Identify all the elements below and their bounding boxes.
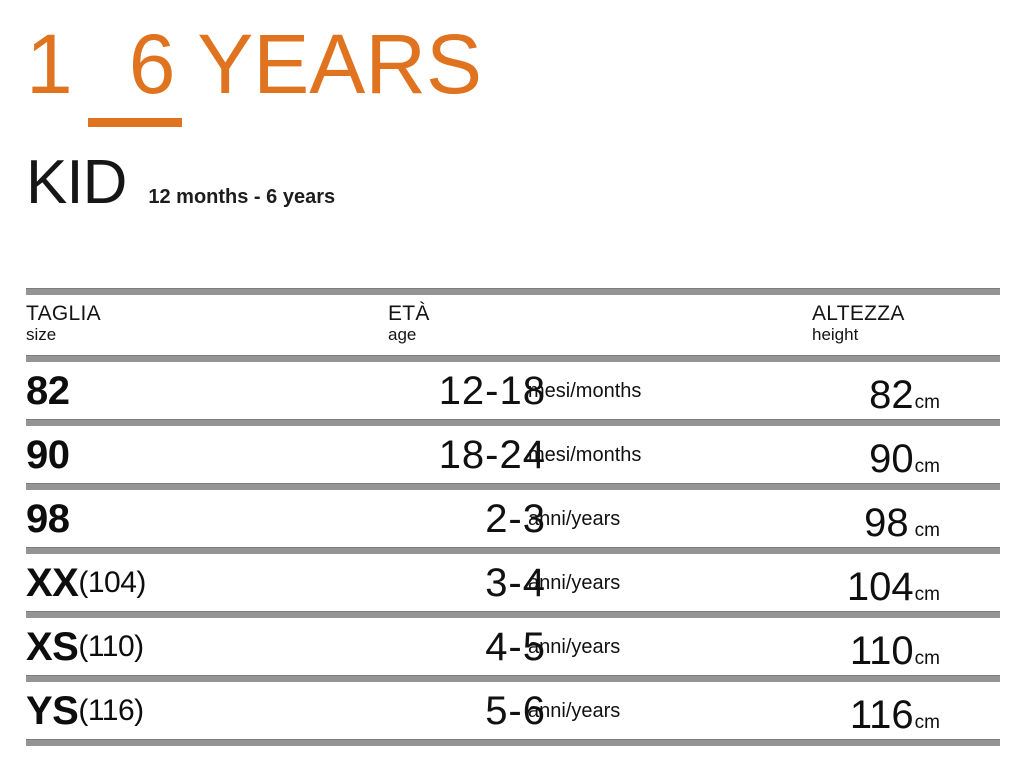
cell-age: 5-6 <box>326 682 546 739</box>
cell-age-unit: anni/years <box>528 490 620 547</box>
age-unit: anni/years <box>528 700 620 722</box>
column-header-height-sub: height <box>812 325 905 345</box>
height-value: 104 <box>847 566 914 608</box>
cell-age-unit: mesi/months <box>528 426 641 483</box>
table-header-row: TAGLIA size ETÀ age ALTEZZA height <box>26 295 1000 355</box>
height-unit: cm <box>915 585 940 605</box>
age-unit: anni/years <box>528 572 620 594</box>
cell-size: XS (110) <box>26 618 144 675</box>
chart-header: 16 YEARS KID 12 months - 6 years <box>0 0 1024 270</box>
cell-height: 116 cm <box>726 682 940 739</box>
table-separator-header <box>26 355 1000 362</box>
cell-age-unit: anni/years <box>528 554 620 611</box>
table-separator-bottom <box>26 739 1000 746</box>
size-table: TAGLIA size ETÀ age ALTEZZA height 82 12… <box>26 288 1000 746</box>
column-header-size-main: TAGLIA <box>26 302 101 325</box>
age-unit: anni/years <box>528 636 620 658</box>
cell-height: 82 cm <box>726 362 940 419</box>
cell-height: 104 cm <box>726 554 940 611</box>
cell-size: YS (116) <box>26 682 144 739</box>
table-separator <box>26 419 1000 426</box>
table-row: XS (110) 4-5 anni/years 110 cm <box>26 618 1000 675</box>
cell-age-unit: mesi/months <box>528 362 641 419</box>
cell-height: 110 cm <box>726 618 940 675</box>
cell-age: 4-5 <box>326 618 546 675</box>
cell-height: 98 cm <box>726 490 940 547</box>
size-code: 98 <box>26 499 70 539</box>
cell-age: 3-4 <box>326 554 546 611</box>
table-row: 90 18-24 mesi/months 90 cm <box>26 426 1000 483</box>
title-prefix: 1 <box>26 17 73 111</box>
height-value: 82 <box>869 374 914 416</box>
page-title: 16 YEARS <box>26 22 482 106</box>
cell-age: 18-24 <box>326 426 546 483</box>
cell-size: 90 <box>26 426 70 483</box>
height-value: 90 <box>869 438 914 480</box>
column-header-age-main: ETÀ <box>388 302 430 325</box>
height-unit: cm <box>915 393 940 413</box>
size-paren: (110) <box>78 632 143 662</box>
column-header-height: ALTEZZA height <box>812 302 905 345</box>
size-code: XS <box>26 627 78 667</box>
height-unit: cm <box>915 457 940 477</box>
column-header-age: ETÀ age <box>388 302 430 345</box>
table-separator <box>26 675 1000 682</box>
height-value: 116 <box>850 694 914 736</box>
column-header-height-main: ALTEZZA <box>812 302 905 325</box>
size-code: 90 <box>26 435 70 475</box>
cell-size: XX (104) <box>26 554 146 611</box>
age-unit: anni/years <box>528 508 620 530</box>
size-paren: (104) <box>78 568 146 598</box>
category-row: KID 12 months - 6 years <box>26 152 335 214</box>
table-separator <box>26 611 1000 618</box>
category-subtitle: 12 months - 6 years <box>148 187 335 207</box>
height-value: 98 <box>864 502 909 544</box>
cell-age-unit: anni/years <box>528 618 620 675</box>
column-header-size: TAGLIA size <box>26 302 101 345</box>
table-separator <box>26 483 1000 490</box>
category-label: KID <box>26 152 126 214</box>
age-unit: mesi/months <box>528 380 641 402</box>
column-header-size-sub: size <box>26 325 101 345</box>
cell-age: 12-18 <box>326 362 546 419</box>
size-code: 82 <box>26 371 70 411</box>
title-underline-bar <box>88 118 182 127</box>
column-header-age-sub: age <box>388 325 430 345</box>
cell-age: 2-3 <box>326 490 546 547</box>
size-paren: (116) <box>78 696 143 726</box>
title-suffix: 6 YEARS <box>129 17 482 111</box>
table-separator <box>26 547 1000 554</box>
table-row: XX (104) 3-4 anni/years 104 cm <box>26 554 1000 611</box>
cell-height: 90 cm <box>726 426 940 483</box>
cell-size: 98 <box>26 490 70 547</box>
height-value: 110 <box>850 630 914 672</box>
height-unit: cm <box>915 649 940 669</box>
size-code: YS <box>26 691 78 731</box>
height-unit: cm <box>915 521 940 541</box>
cell-age-unit: anni/years <box>528 682 620 739</box>
age-unit: mesi/months <box>528 444 641 466</box>
table-row: 98 2-3 anni/years 98 cm <box>26 490 1000 547</box>
size-code: XX <box>26 563 78 603</box>
table-row: YS (116) 5-6 anni/years 116 cm <box>26 682 1000 739</box>
cell-size: 82 <box>26 362 70 419</box>
height-unit: cm <box>915 713 940 733</box>
table-separator-top <box>26 288 1000 295</box>
table-row: 82 12-18 mesi/months 82 cm <box>26 362 1000 419</box>
